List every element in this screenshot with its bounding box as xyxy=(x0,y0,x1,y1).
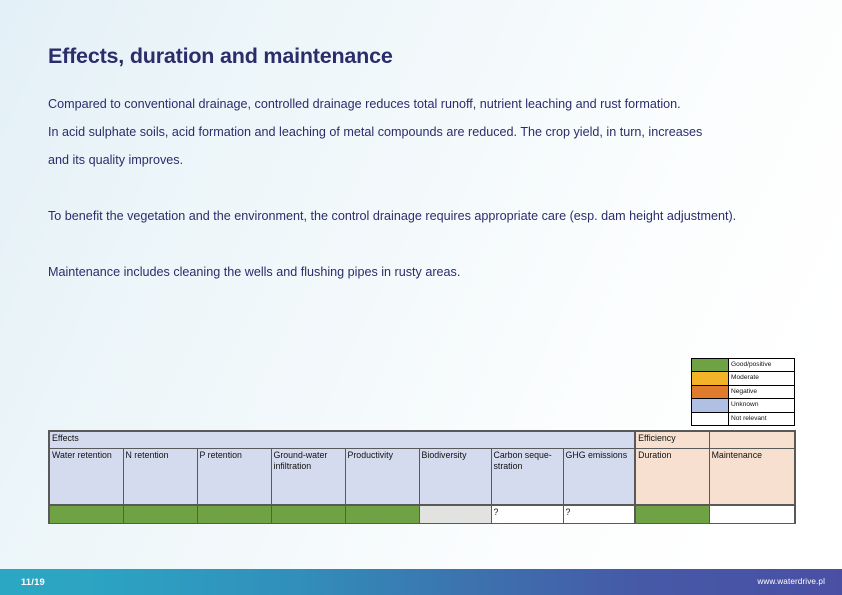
column-header-water-retention: Water retention xyxy=(49,449,123,506)
legend-swatch-negative xyxy=(692,386,729,398)
column-header-maintenance: Maintenance xyxy=(709,449,795,506)
table-rating-row: ? ? xyxy=(49,505,795,524)
body-line: and its quality improves. xyxy=(48,146,702,174)
effects-matrix-table: Effects Efficiency Water retention N ret… xyxy=(48,430,796,524)
legend-label-unknown: Unknown xyxy=(729,399,794,411)
legend-item-moderate: Moderate xyxy=(692,372,794,385)
slide-canvas: Effects, duration and maintenance Compar… xyxy=(0,0,842,595)
legend-label-not-relevant: Not relevant xyxy=(729,413,794,425)
footer-url[interactable]: www.waterdrive.pl xyxy=(757,577,825,586)
body-line: In acid sulphate soils, acid formation a… xyxy=(48,118,702,146)
legend-item-not-relevant: Not relevant xyxy=(692,413,794,425)
rating-cell-water-retention xyxy=(49,505,123,524)
legend-label-negative: Negative xyxy=(729,386,794,398)
body-paragraph-3: Maintenance includes cleaning the wells … xyxy=(48,258,460,286)
column-header-carbon-sequestration: Carbon seque-stration xyxy=(491,449,563,506)
column-header-n-retention: N retention xyxy=(123,449,197,506)
legend-swatch-unknown xyxy=(692,399,729,411)
column-header-productivity: Productivity xyxy=(345,449,419,506)
group-header-effects: Effects xyxy=(49,431,635,449)
column-header-biodiversity: Biodiversity xyxy=(419,449,491,506)
page-title: Effects, duration and maintenance xyxy=(48,44,393,69)
rating-cell-n-retention xyxy=(123,505,197,524)
column-header-ghg-emissions: GHG emissions xyxy=(563,449,635,506)
column-header-p-retention: P retention xyxy=(197,449,271,506)
rating-cell-groundwater-infiltration xyxy=(271,505,345,524)
legend-item-unknown: Unknown xyxy=(692,399,794,412)
legend-item-good: Good/positive xyxy=(692,359,794,372)
legend-label-moderate: Moderate xyxy=(729,372,794,384)
legend-swatch-good xyxy=(692,359,729,371)
rating-cell-productivity xyxy=(345,505,419,524)
legend-swatch-not-relevant xyxy=(692,413,729,425)
rating-cell-biodiversity xyxy=(419,505,491,524)
rating-cell-ghg-emissions: ? xyxy=(563,505,635,524)
page-number: 11/19 xyxy=(21,576,45,587)
group-header-efficiency-spacer xyxy=(709,431,795,449)
rating-cell-duration xyxy=(635,505,709,524)
body-line: Compared to conventional drainage, contr… xyxy=(48,90,702,118)
rating-cell-p-retention xyxy=(197,505,271,524)
table-group-header-row: Effects Efficiency xyxy=(49,431,795,449)
body-line: To benefit the vegetation and the enviro… xyxy=(48,202,736,230)
footer-bar: 11/19 www.waterdrive.pl xyxy=(0,569,842,595)
legend-item-negative: Negative xyxy=(692,386,794,399)
rating-legend: Good/positive Moderate Negative Unknown … xyxy=(691,358,795,426)
group-header-efficiency: Efficiency xyxy=(635,431,709,449)
body-paragraph-1: Compared to conventional drainage, contr… xyxy=(48,90,702,174)
rating-cell-carbon-sequestration: ? xyxy=(491,505,563,524)
body-paragraph-2: To benefit the vegetation and the enviro… xyxy=(48,202,736,230)
body-line: Maintenance includes cleaning the wells … xyxy=(48,258,460,286)
legend-swatch-moderate xyxy=(692,372,729,384)
rating-cell-maintenance xyxy=(709,505,795,524)
column-header-groundwater-infiltration: Ground-water infiltration xyxy=(271,449,345,506)
legend-label-good: Good/positive xyxy=(729,359,794,371)
table-column-header-row: Water retention N retention P retention … xyxy=(49,449,795,506)
column-header-duration: Duration xyxy=(635,449,709,506)
